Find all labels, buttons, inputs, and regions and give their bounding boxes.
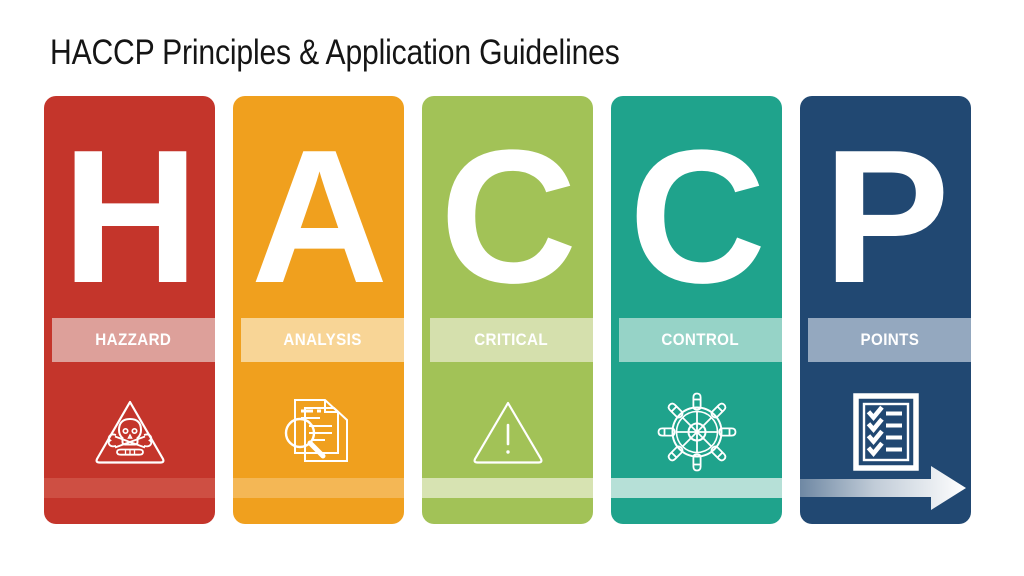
haccp-card-row: H HAZZARD (44, 96, 980, 524)
card-label-band: ANALYSIS (241, 318, 404, 362)
card-label-band: CONTROL (619, 318, 782, 362)
page-title: HACCP Principles & Application Guideline… (50, 31, 620, 75)
card-label-text: CONTROL (662, 331, 740, 350)
ship-wheel-icon (611, 384, 782, 480)
card-label-text: CRITICAL (475, 331, 549, 350)
card-label-text: HAZZARD (96, 331, 172, 350)
warning-triangle-icon (422, 384, 593, 480)
haccp-card-control[interactable]: C CONTROL (611, 96, 782, 524)
checklist-icon (800, 384, 971, 480)
progress-stripe (233, 478, 404, 498)
card-letter: C (611, 142, 782, 292)
card-label-text: POINTS (860, 331, 919, 350)
card-letter: A (233, 142, 404, 292)
progress-stripe (611, 478, 782, 498)
card-letter: H (44, 142, 215, 292)
hazard-skull-triangle-icon (44, 384, 215, 480)
progress-stripe (422, 478, 593, 498)
card-label-band: POINTS (808, 318, 971, 362)
document-magnifier-icon (233, 384, 404, 480)
card-letter: P (800, 142, 971, 292)
card-label-band: HAZZARD (52, 318, 215, 362)
card-label-text: ANALYSIS (283, 331, 361, 350)
card-label-band: CRITICAL (430, 318, 593, 362)
haccp-card-points[interactable]: P POINTS (800, 96, 971, 524)
progress-stripe (44, 478, 215, 498)
card-letter: C (422, 142, 593, 292)
infographic-canvas: HACCP Principles & Application Guideline… (0, 0, 1024, 576)
haccp-card-analysis[interactable]: A ANALYSIS (233, 96, 404, 524)
haccp-card-hazzard[interactable]: H HAZZARD (44, 96, 215, 524)
haccp-card-critical[interactable]: C CRITICAL (422, 96, 593, 524)
